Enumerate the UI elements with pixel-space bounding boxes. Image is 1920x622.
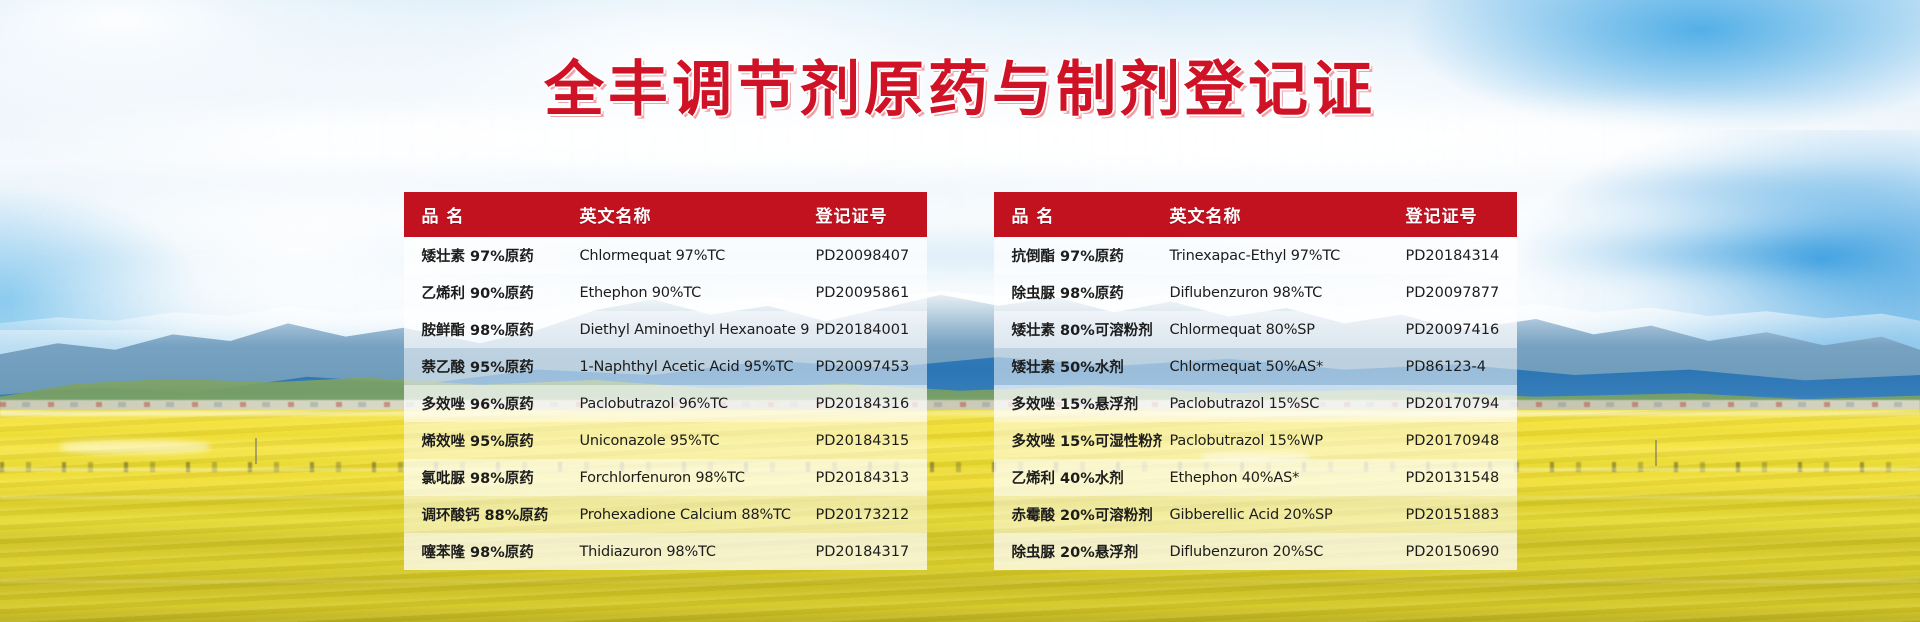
field-track-3 — [0, 580, 1920, 583]
left-table: 品 名 英文名称 登记证号 矮壮素 97%原药Chlormequat 97%TC… — [404, 192, 927, 570]
cell-product-name: 烯效唑 95%原药 — [404, 422, 572, 459]
column-header-registration-number: 登记证号 — [1400, 192, 1517, 237]
cell-product-name: 多效唑 96%原药 — [404, 385, 572, 422]
cell-english-name: Diflubenzuron 98%TC — [1162, 274, 1400, 311]
cell-product-name: 乙烯利 40%水剂 — [994, 459, 1162, 496]
cell-registration-number: PD20170794 — [1400, 385, 1517, 422]
cell-english-name: 1-Naphthyl Acetic Acid 95%TC — [572, 348, 810, 385]
column-header-product-name: 品 名 — [994, 192, 1162, 237]
cell-english-name: Uniconazole 95%TC — [572, 422, 810, 459]
table-row: 除虫脲 20%悬浮剂Diflubenzuron 20%SCPD20150690 — [994, 533, 1517, 570]
table-row: 噻苯隆 98%原药Thidiazuron 98%TCPD20184317 — [404, 533, 927, 570]
registration-tables: 品 名 英文名称 登记证号 矮壮素 97%原药Chlormequat 97%TC… — [0, 192, 1920, 570]
cell-registration-number: PD86123-4 — [1400, 348, 1517, 385]
cell-english-name: Forchlorfenuron 98%TC — [572, 459, 810, 496]
banner-stage: 全丰调节剂原药与制剂登记证 品 名 英文名称 登记证号 矮壮素 97%原药Chl… — [0, 0, 1920, 622]
column-header-registration-number: 登记证号 — [810, 192, 927, 237]
cell-registration-number: PD20097877 — [1400, 274, 1517, 311]
table-row: 除虫脲 98%原药Diflubenzuron 98%TCPD20097877 — [994, 274, 1517, 311]
table-row: 多效唑 15%悬浮剂Paclobutrazol 15%SCPD20170794 — [994, 385, 1517, 422]
page-title: 全丰调节剂原药与制剂登记证 — [0, 60, 1920, 120]
cell-product-name: 胺鲜酯 98%原药 — [404, 311, 572, 348]
cell-registration-number: PD20131548 — [1400, 459, 1517, 496]
left-table-body: 矮壮素 97%原药Chlormequat 97%TCPD20098407乙烯利 … — [404, 237, 927, 570]
cell-registration-number: PD20184314 — [1400, 237, 1517, 274]
cell-english-name: Chlormequat 80%SP — [1162, 311, 1400, 348]
table-row: 赤霉酸 20%可溶粉剂Gibberellic Acid 20%SPPD20151… — [994, 496, 1517, 533]
cell-english-name: Ethephon 90%TC — [572, 274, 810, 311]
left-table-card: 品 名 英文名称 登记证号 矮壮素 97%原药Chlormequat 97%TC… — [404, 192, 927, 570]
cell-product-name: 氯吡脲 98%原药 — [404, 459, 572, 496]
right-table-head: 品 名 英文名称 登记证号 — [994, 192, 1517, 237]
cell-product-name: 噻苯隆 98%原药 — [404, 533, 572, 570]
cell-registration-number: PD20098407 — [810, 237, 927, 274]
cell-english-name: Paclobutrazol 15%SC — [1162, 385, 1400, 422]
table-row: 萘乙酸 95%原药1-Naphthyl Acetic Acid 95%TCPD2… — [404, 348, 927, 385]
cell-english-name: Prohexadione Calcium 88%TC — [572, 496, 810, 533]
cell-english-name: Paclobutrazol 96%TC — [572, 385, 810, 422]
cell-registration-number: PD20184316 — [810, 385, 927, 422]
table-row: 乙烯利 40%水剂Ethephon 40%AS*PD20131548 — [994, 459, 1517, 496]
table-header-row: 品 名 英文名称 登记证号 — [404, 192, 927, 237]
table-row: 多效唑 96%原药Paclobutrazol 96%TCPD20184316 — [404, 385, 927, 422]
cell-product-name: 多效唑 15%悬浮剂 — [994, 385, 1162, 422]
cell-product-name: 调环酸钙 88%原药 — [404, 496, 572, 533]
cell-english-name: Chlormequat 50%AS* — [1162, 348, 1400, 385]
cell-english-name: Chlormequat 97%TC — [572, 237, 810, 274]
cell-registration-number: PD20170948 — [1400, 422, 1517, 459]
cell-registration-number: PD20151883 — [1400, 496, 1517, 533]
left-table-head: 品 名 英文名称 登记证号 — [404, 192, 927, 237]
cell-registration-number: PD20184317 — [810, 533, 927, 570]
cell-product-name: 除虫脲 98%原药 — [994, 274, 1162, 311]
table-row: 矮壮素 50%水剂Chlormequat 50%AS*PD86123-4 — [994, 348, 1517, 385]
cell-product-name: 矮壮素 80%可溶粉剂 — [994, 311, 1162, 348]
right-table-card: 品 名 英文名称 登记证号 抗倒酯 97%原药Trinexapac-Ethyl … — [994, 192, 1517, 570]
cell-english-name: Paclobutrazol 15%WP — [1162, 422, 1400, 459]
cell-product-name: 赤霉酸 20%可溶粉剂 — [994, 496, 1162, 533]
cell-english-name: Thidiazuron 98%TC — [572, 533, 810, 570]
cell-english-name: Ethephon 40%AS* — [1162, 459, 1400, 496]
cell-registration-number: PD20097453 — [810, 348, 927, 385]
column-header-english-name: 英文名称 — [1162, 192, 1400, 237]
table-row: 调环酸钙 88%原药Prohexadione Calcium 88%TCPD20… — [404, 496, 927, 533]
cell-product-name: 乙烯利 90%原药 — [404, 274, 572, 311]
column-header-english-name: 英文名称 — [572, 192, 810, 237]
table-row: 胺鲜酯 98%原药Diethyl Aminoethyl Hexanoate 98… — [404, 311, 927, 348]
table-row: 矮壮素 97%原药Chlormequat 97%TCPD20098407 — [404, 237, 927, 274]
cell-registration-number: PD20173212 — [810, 496, 927, 533]
table-header-row: 品 名 英文名称 登记证号 — [994, 192, 1517, 237]
table-row: 乙烯利 90%原药Ethephon 90%TCPD20095861 — [404, 274, 927, 311]
cell-product-name: 矮壮素 50%水剂 — [994, 348, 1162, 385]
cell-product-name: 抗倒酯 97%原药 — [994, 237, 1162, 274]
cell-product-name: 矮壮素 97%原药 — [404, 237, 572, 274]
cell-english-name: Trinexapac-Ethyl 97%TC — [1162, 237, 1400, 274]
cell-registration-number: PD20184313 — [810, 459, 927, 496]
cell-registration-number: PD20184001 — [810, 311, 927, 348]
table-row: 抗倒酯 97%原药Trinexapac-Ethyl 97%TCPD2018431… — [994, 237, 1517, 274]
cell-english-name: Diethyl Aminoethyl Hexanoate 98%TC — [572, 311, 810, 348]
cell-product-name: 多效唑 15%可湿性粉剂 — [994, 422, 1162, 459]
table-row: 氯吡脲 98%原药Forchlorfenuron 98%TCPD20184313 — [404, 459, 927, 496]
right-table: 品 名 英文名称 登记证号 抗倒酯 97%原药Trinexapac-Ethyl … — [994, 192, 1517, 570]
cell-registration-number: PD20150690 — [1400, 533, 1517, 570]
cell-registration-number: PD20184315 — [810, 422, 927, 459]
column-header-product-name: 品 名 — [404, 192, 572, 237]
table-row: 烯效唑 95%原药Uniconazole 95%TCPD20184315 — [404, 422, 927, 459]
cell-product-name: 萘乙酸 95%原药 — [404, 348, 572, 385]
cell-english-name: Gibberellic Acid 20%SP — [1162, 496, 1400, 533]
cell-registration-number: PD20095861 — [810, 274, 927, 311]
cell-product-name: 除虫脲 20%悬浮剂 — [994, 533, 1162, 570]
cell-english-name: Diflubenzuron 20%SC — [1162, 533, 1400, 570]
cell-registration-number: PD20097416 — [1400, 311, 1517, 348]
right-table-body: 抗倒酯 97%原药Trinexapac-Ethyl 97%TCPD2018431… — [994, 237, 1517, 570]
table-row: 矮壮素 80%可溶粉剂Chlormequat 80%SPPD20097416 — [994, 311, 1517, 348]
table-row: 多效唑 15%可湿性粉剂Paclobutrazol 15%WPPD2017094… — [994, 422, 1517, 459]
